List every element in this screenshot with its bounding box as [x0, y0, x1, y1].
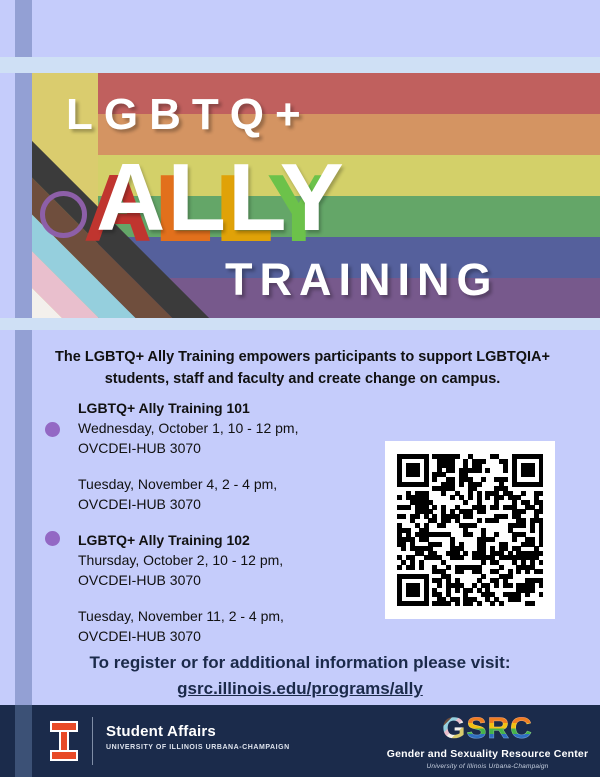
- bullet-icon-101: [45, 422, 60, 437]
- poster-footer: Student Affairs UNIVERSITY OF ILLINOIS U…: [0, 705, 600, 777]
- qr-code[interactable]: [385, 441, 555, 619]
- spacer: [78, 458, 368, 474]
- session-location: OVCDEI-HUB 3070: [78, 494, 368, 514]
- session-location: OVCDEI-HUB 3070: [78, 438, 368, 458]
- session-date: Wednesday, October 1, 10 - 12 pm,: [78, 418, 368, 438]
- spacer: [78, 514, 368, 530]
- spacer: [78, 590, 368, 606]
- poster: LGBTQ+ ALLY ALLY TRAINING The LGBTQ+ All…: [0, 0, 600, 777]
- register-url[interactable]: gsrc.illinois.edu/programs/ally: [0, 676, 600, 702]
- student-affairs-title: Student Affairs: [106, 723, 216, 740]
- block-i-bottom: [50, 750, 78, 761]
- session-date: Thursday, October 2, 10 - 12 pm,: [78, 550, 368, 570]
- banner-rail-bottom: [0, 318, 600, 330]
- session-101: LGBTQ+ Ally Training 101 Wednesday, Octo…: [78, 398, 368, 514]
- gsrc-name: Gender and Sexuality Resource Center: [380, 748, 595, 760]
- chevron-bars: [0, 73, 250, 318]
- progress-chevron: [0, 73, 250, 318]
- footer-divider: [92, 717, 93, 765]
- session-date: Tuesday, November 11, 2 - 4 pm,: [78, 606, 368, 626]
- bullet-icon-102: [45, 531, 60, 546]
- pride-banner: [0, 57, 600, 330]
- session-list: LGBTQ+ Ally Training 101 Wednesday, Octo…: [78, 398, 368, 646]
- qr-code-image: [397, 454, 543, 606]
- intersex-circle-icon: [40, 191, 87, 238]
- gsrc-logo: GSRC Gender and Sexuality Resource Cente…: [380, 713, 595, 770]
- session-location: OVCDEI-HUB 3070: [78, 570, 368, 590]
- session-102: LGBTQ+ Ally Training 102 Thursday, Octob…: [78, 530, 368, 646]
- intro-paragraph: The LGBTQ+ Ally Training empowers partic…: [45, 346, 560, 390]
- block-i-icon: [50, 721, 78, 761]
- pride-flag: [0, 73, 600, 318]
- register-prompt: To register or for additional informatio…: [0, 650, 600, 676]
- banner-rail-top: [0, 57, 600, 73]
- session-date: Tuesday, November 4, 2 - 4 pm,: [78, 474, 368, 494]
- gsrc-university: University of Illinois Urbana-Champaign: [380, 763, 595, 770]
- session-title: LGBTQ+ Ally Training 102: [78, 530, 368, 550]
- session-title: LGBTQ+ Ally Training 101: [78, 398, 368, 418]
- session-location: OVCDEI-HUB 3070: [78, 626, 368, 646]
- gsrc-acronym: GSRC: [380, 713, 595, 745]
- register-callout: To register or for additional informatio…: [0, 650, 600, 702]
- left-stripe-footer: [15, 705, 32, 777]
- student-affairs-subtitle: UNIVERSITY OF ILLINOIS URBANA-CHAMPAIGN: [106, 744, 290, 751]
